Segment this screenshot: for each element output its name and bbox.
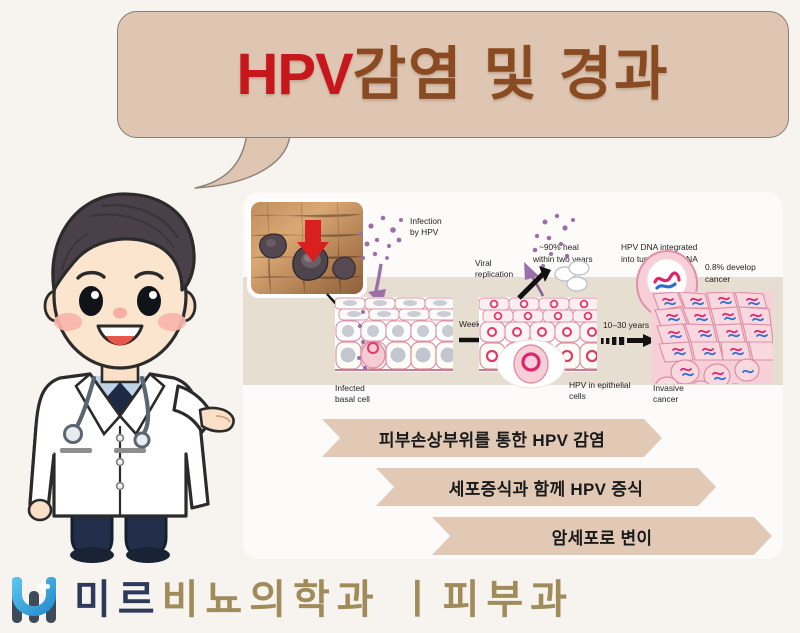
- footer-brand-name: 미르: [74, 578, 162, 622]
- step-banner-3-label: 암세포로 변이: [552, 524, 653, 549]
- label-infected-2: basal cell: [335, 394, 370, 404]
- footer-bar: 미르비뇨의학과 ㅣ피부과: [0, 566, 800, 633]
- clinic-logo-icon: [8, 574, 60, 626]
- doctor-character: [2, 186, 238, 564]
- step-banner-2-label: 세포증식과 함께 HPV 증식: [449, 475, 643, 500]
- label-heal: ~90% heal: [539, 242, 579, 252]
- title-hpv: HPV: [236, 42, 352, 107]
- hpv-cell-callout: [497, 340, 565, 388]
- tissue-block-normal: [335, 297, 461, 380]
- title-tail: 경과: [559, 42, 670, 107]
- infographic-canvas: HPV감염및경과: [0, 0, 800, 633]
- label-invasive-2: cancer: [653, 394, 678, 404]
- footer-departments: 비뇨의학과 ㅣ피부과: [162, 578, 574, 622]
- title-korean: 감염: [353, 42, 464, 107]
- label-develop-2: cancer: [705, 274, 730, 284]
- step-banner-1: 피부손상부위를 통한 HPV 감염: [322, 419, 662, 457]
- label-invasive: Invasive: [653, 383, 684, 393]
- label-infection-2: by HPV: [410, 227, 439, 237]
- step-banner-1-label: 피부손상부위를 통한 HPV 감염: [379, 426, 605, 451]
- label-develop: 0.8% develop: [705, 262, 756, 272]
- title-middle: 및: [483, 42, 538, 107]
- page-title: HPV감염및경과: [236, 46, 669, 104]
- label-epithelial-2: cells: [569, 391, 586, 401]
- footer-brand: 미르비뇨의학과 ㅣ피부과: [74, 580, 574, 620]
- label-dna: HPV DNA integrated: [621, 242, 698, 252]
- speech-bubble-tail: [185, 133, 295, 189]
- label-infection: Infection: [410, 216, 442, 226]
- title-speech-bubble: HPV감염및경과: [117, 11, 789, 138]
- label-infected: Infected: [335, 383, 365, 393]
- step-banner-2: 세포증식과 함께 HPV 증식: [376, 468, 716, 506]
- label-epithelial: HPV in epithelial: [569, 380, 631, 390]
- hpv-progression-diagram: Infection by HPV: [243, 192, 783, 414]
- label-viral-2: replication: [475, 269, 514, 279]
- label-viral: Viral: [475, 258, 492, 268]
- step-banner-3: 암세포로 변이: [432, 517, 772, 555]
- label-years: 10–30 years: [603, 320, 649, 330]
